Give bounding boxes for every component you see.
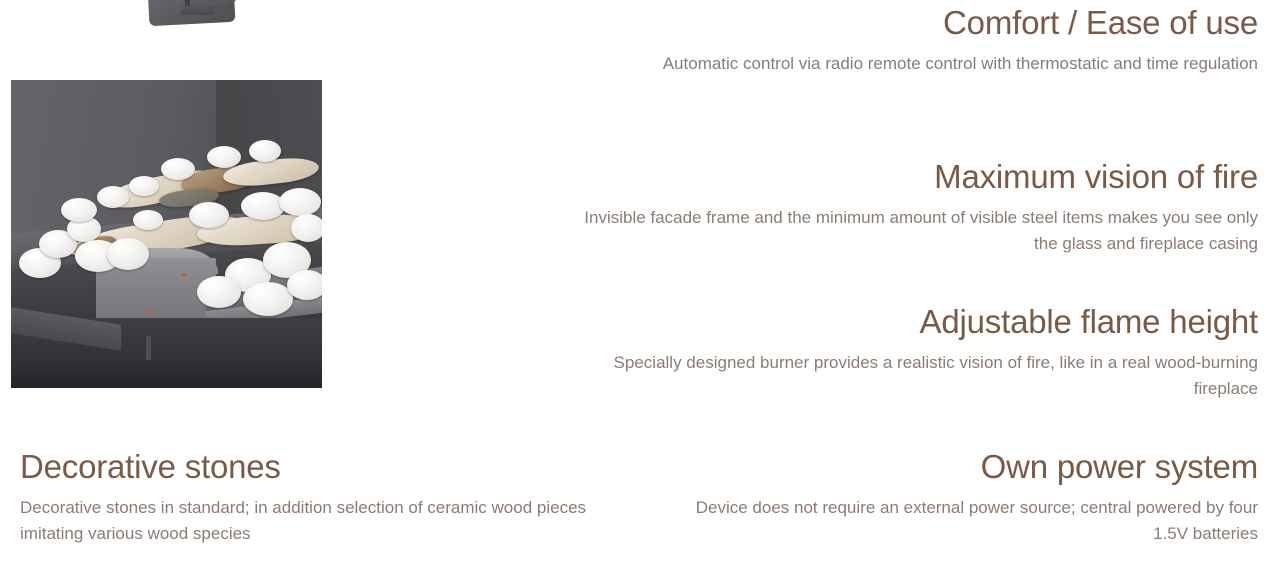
decorative-stone (61, 198, 97, 222)
burner-ember (181, 274, 187, 276)
feature-title: Own power system (658, 448, 1258, 487)
decorative-stone (133, 210, 163, 230)
feature-block-vision: Maximum vision of fire Invisible facade … (558, 158, 1258, 257)
feature-block-stones: Decorative stones Decorative stones in s… (20, 448, 600, 547)
decorative-stone (97, 186, 129, 208)
feature-description: Invisible facade frame and the minimum a… (558, 205, 1258, 257)
feature-block-power: Own power system Device does not require… (658, 448, 1258, 547)
feature-description: Decorative stones in standard; in additi… (20, 495, 600, 547)
remote-control-notch (185, 0, 190, 6)
remote-control-sensor (221, 0, 238, 4)
decorative-stone (241, 192, 285, 220)
burner-with-decorative-stones-photo (11, 80, 322, 388)
decorative-stone (107, 238, 149, 270)
feature-title: Adjustable flame height (558, 303, 1258, 342)
decorative-stone (279, 188, 321, 216)
feature-title: Comfort / Ease of use (558, 4, 1258, 43)
feature-block-comfort: Comfort / Ease of use Automatic control … (558, 6, 1258, 77)
feature-description: Specially designed burner provides a rea… (558, 350, 1258, 402)
feature-description: Automatic control via radio remote contr… (558, 51, 1258, 77)
feature-title: Maximum vision of fire (558, 158, 1258, 197)
decorative-stone (291, 214, 322, 242)
feature-title: Decorative stones (20, 448, 600, 487)
feature-overview-page: Comfort / Ease of use Automatic control … (0, 0, 1264, 585)
feature-block-flame: Adjustable flame height Specially design… (558, 303, 1258, 402)
burner-ember (147, 310, 153, 312)
cropped-remote-control-photo (0, 0, 330, 34)
decorative-stone (197, 276, 241, 308)
decorative-stone (207, 146, 241, 168)
decorative-stone (243, 282, 293, 316)
fireplace-floor-post (146, 336, 151, 360)
decorative-stone (287, 270, 322, 300)
decorative-stone (129, 176, 159, 196)
decorative-stone (249, 140, 281, 162)
decorative-stone (161, 158, 195, 180)
decorative-stone (189, 202, 229, 228)
feature-description: Device does not require an external powe… (658, 495, 1258, 547)
